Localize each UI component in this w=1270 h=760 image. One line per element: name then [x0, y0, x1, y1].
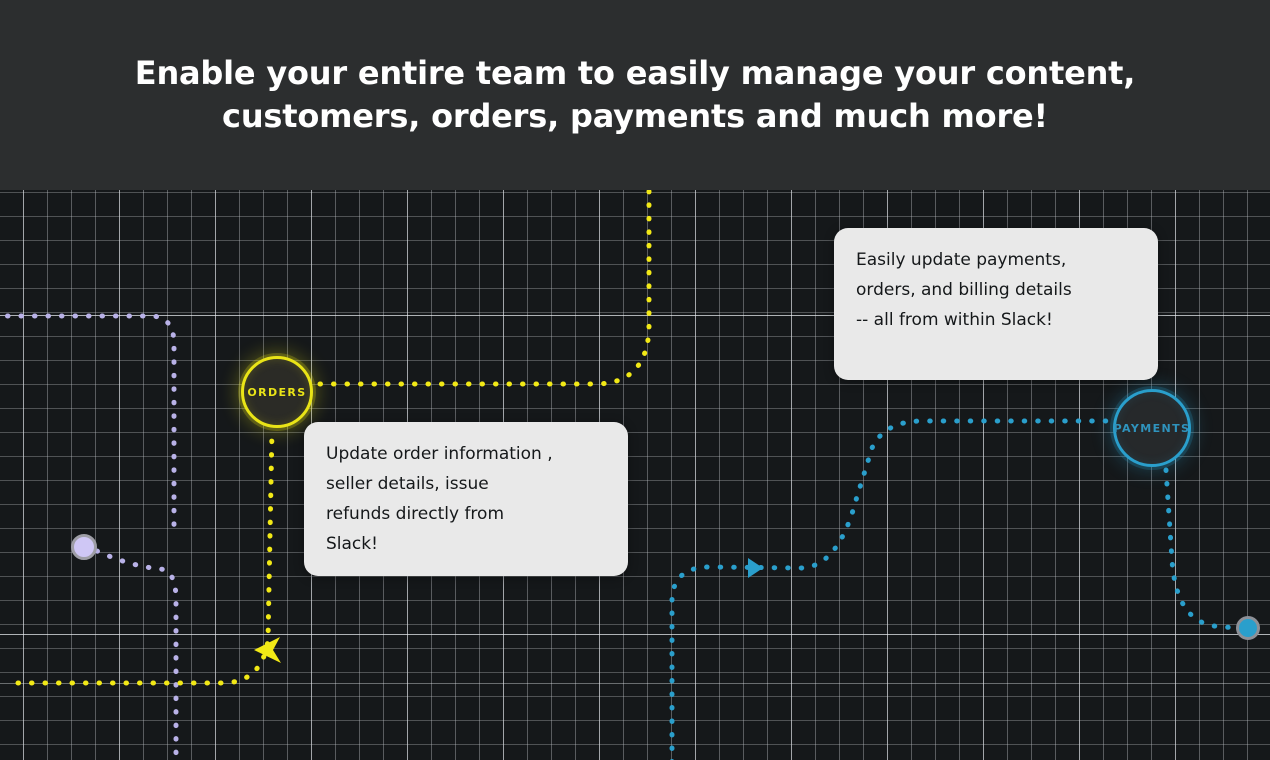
arrow-left-icon [254, 637, 281, 663]
headline-line-2: customers, orders, payments and much mor… [135, 95, 1135, 138]
purple-path-upper [0, 316, 174, 530]
orders-tooltip-text: Update order information , seller detail… [326, 440, 606, 560]
teal-path-right [1166, 470, 1236, 628]
payments-tooltip-text: Easily update payments, orders, and bill… [856, 246, 1136, 336]
headline-line-1: Enable your entire team to easily manage… [135, 54, 1135, 92]
teal-path-left [672, 421, 1110, 760]
purple-path-lower [97, 551, 176, 760]
teal-terminal-dot [1236, 616, 1260, 640]
node-payments-label: PAYMENTS [1114, 422, 1191, 435]
yellow-path-upper [320, 188, 649, 384]
yellow-path-lower [18, 430, 272, 683]
header-banner: Enable your entire team to easily manage… [0, 0, 1270, 190]
page-title: Enable your entire team to easily manage… [75, 52, 1195, 137]
purple-terminal-dot [71, 534, 97, 560]
node-payments[interactable]: PAYMENTS [1113, 389, 1191, 467]
node-orders[interactable]: ORDERS [241, 356, 313, 428]
orders-tooltip: Update order information , seller detail… [304, 422, 628, 576]
arrow-right-icon [748, 558, 763, 578]
diagram-stage: ORDERS PAYMENTS Update order information… [0, 0, 1270, 760]
node-orders-label: ORDERS [247, 386, 306, 399]
payments-tooltip: Easily update payments, orders, and bill… [834, 228, 1158, 380]
